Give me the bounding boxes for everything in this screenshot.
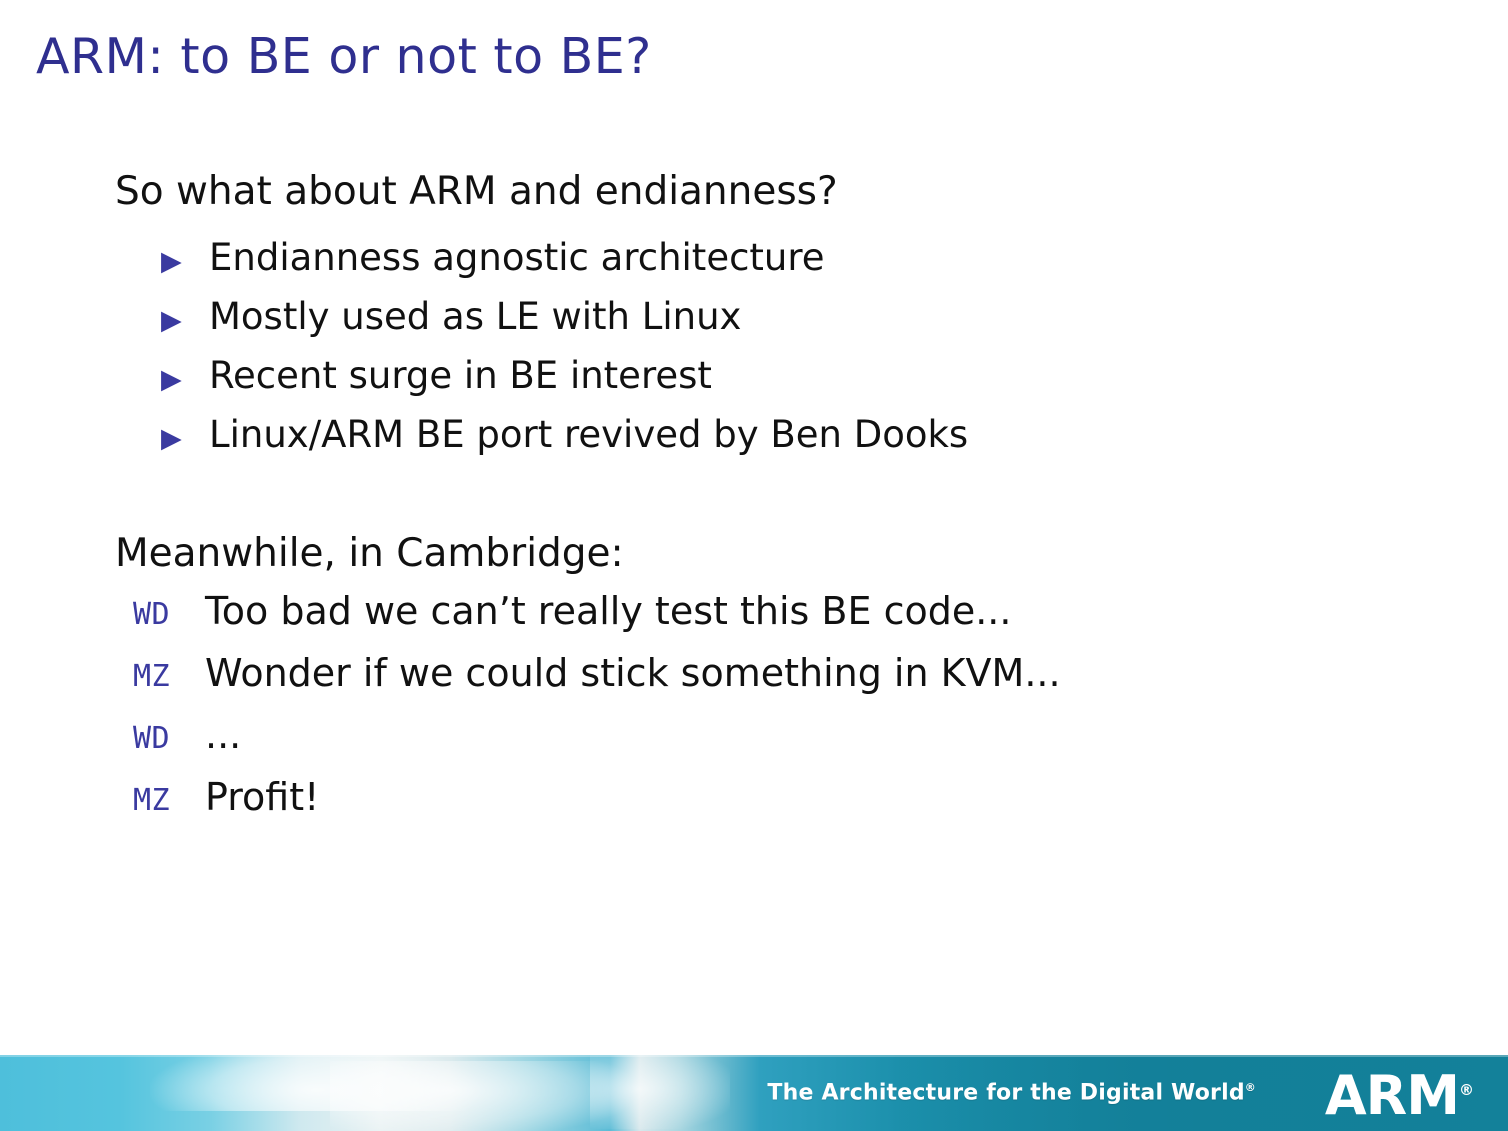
page-title: ARM: to BE or not to BE? (36, 28, 652, 86)
list-item: ▶ Endianness agnostic architecture (115, 230, 1415, 289)
dialogue-speaker-label: WD (133, 586, 205, 644)
lead-question: So what about ARM and endianness? (115, 168, 1415, 216)
bullet-list: ▶ Endianness agnostic architecture ▶ Mos… (115, 230, 1415, 466)
list-item: ▶ Mostly used as LE with Linux (115, 289, 1415, 348)
registered-trademark-icon: ® (1459, 1081, 1474, 1099)
dialogue-intro: Meanwhile, in Cambridge: (115, 528, 1415, 580)
list-item-label: Endianness agnostic architecture (209, 230, 825, 285)
brand-tagline-text: The Architecture for the Digital World (767, 1081, 1244, 1106)
list-item: ▶ Linux/ARM BE port revived by Ben Dooks (115, 407, 1415, 466)
dialogue-line-text: Too bad we can’t really test this BE cod… (205, 582, 1011, 640)
dialogue-row: WD ... (115, 706, 1415, 768)
dialogue-section: Meanwhile, in Cambridge: WD Too bad we c… (115, 528, 1415, 830)
dialogue-speaker-label: MZ (133, 648, 205, 706)
dialogue-row: MZ Profit! (115, 768, 1415, 830)
footer-top-divider (0, 1055, 1508, 1057)
body-content: So what about ARM and endianness? ▶ Endi… (115, 168, 1415, 466)
arm-logo-text: ARM (1325, 1064, 1459, 1127)
list-item: ▶ Recent surge in BE interest (115, 348, 1415, 407)
triangle-bullet-icon: ▶ (161, 234, 209, 289)
brand-tagline: The Architecture for the Digital World® (767, 1081, 1256, 1106)
dialogue-speaker-label: MZ (133, 772, 205, 830)
dialogue-line-text: ... (205, 706, 241, 764)
triangle-bullet-icon: ▶ (161, 352, 209, 407)
dialogue-list: WD Too bad we can’t really test this BE … (115, 582, 1415, 830)
cloud-decoration (330, 1061, 630, 1131)
slide-footer: The Architecture for the Digital World® … (0, 1055, 1508, 1131)
triangle-bullet-icon: ▶ (161, 293, 209, 348)
dialogue-line-text: Wonder if we could stick something in KV… (205, 644, 1061, 702)
slide-canvas: ARM: to BE or not to BE? So what about A… (0, 0, 1508, 1131)
registered-trademark-icon: ® (1245, 1081, 1256, 1094)
triangle-bullet-icon: ▶ (161, 411, 209, 466)
dialogue-speaker-label: WD (133, 710, 205, 768)
list-item-label: Mostly used as LE with Linux (209, 289, 741, 344)
cloud-decoration (590, 1055, 730, 1129)
dialogue-row: MZ Wonder if we could stick something in… (115, 644, 1415, 706)
arm-logo: ARM® (1325, 1063, 1474, 1123)
dialogue-row: WD Too bad we can’t really test this BE … (115, 582, 1415, 644)
dialogue-line-text: Profit! (205, 768, 319, 826)
list-item-label: Recent surge in BE interest (209, 348, 712, 403)
list-item-label: Linux/ARM BE port revived by Ben Dooks (209, 407, 968, 462)
